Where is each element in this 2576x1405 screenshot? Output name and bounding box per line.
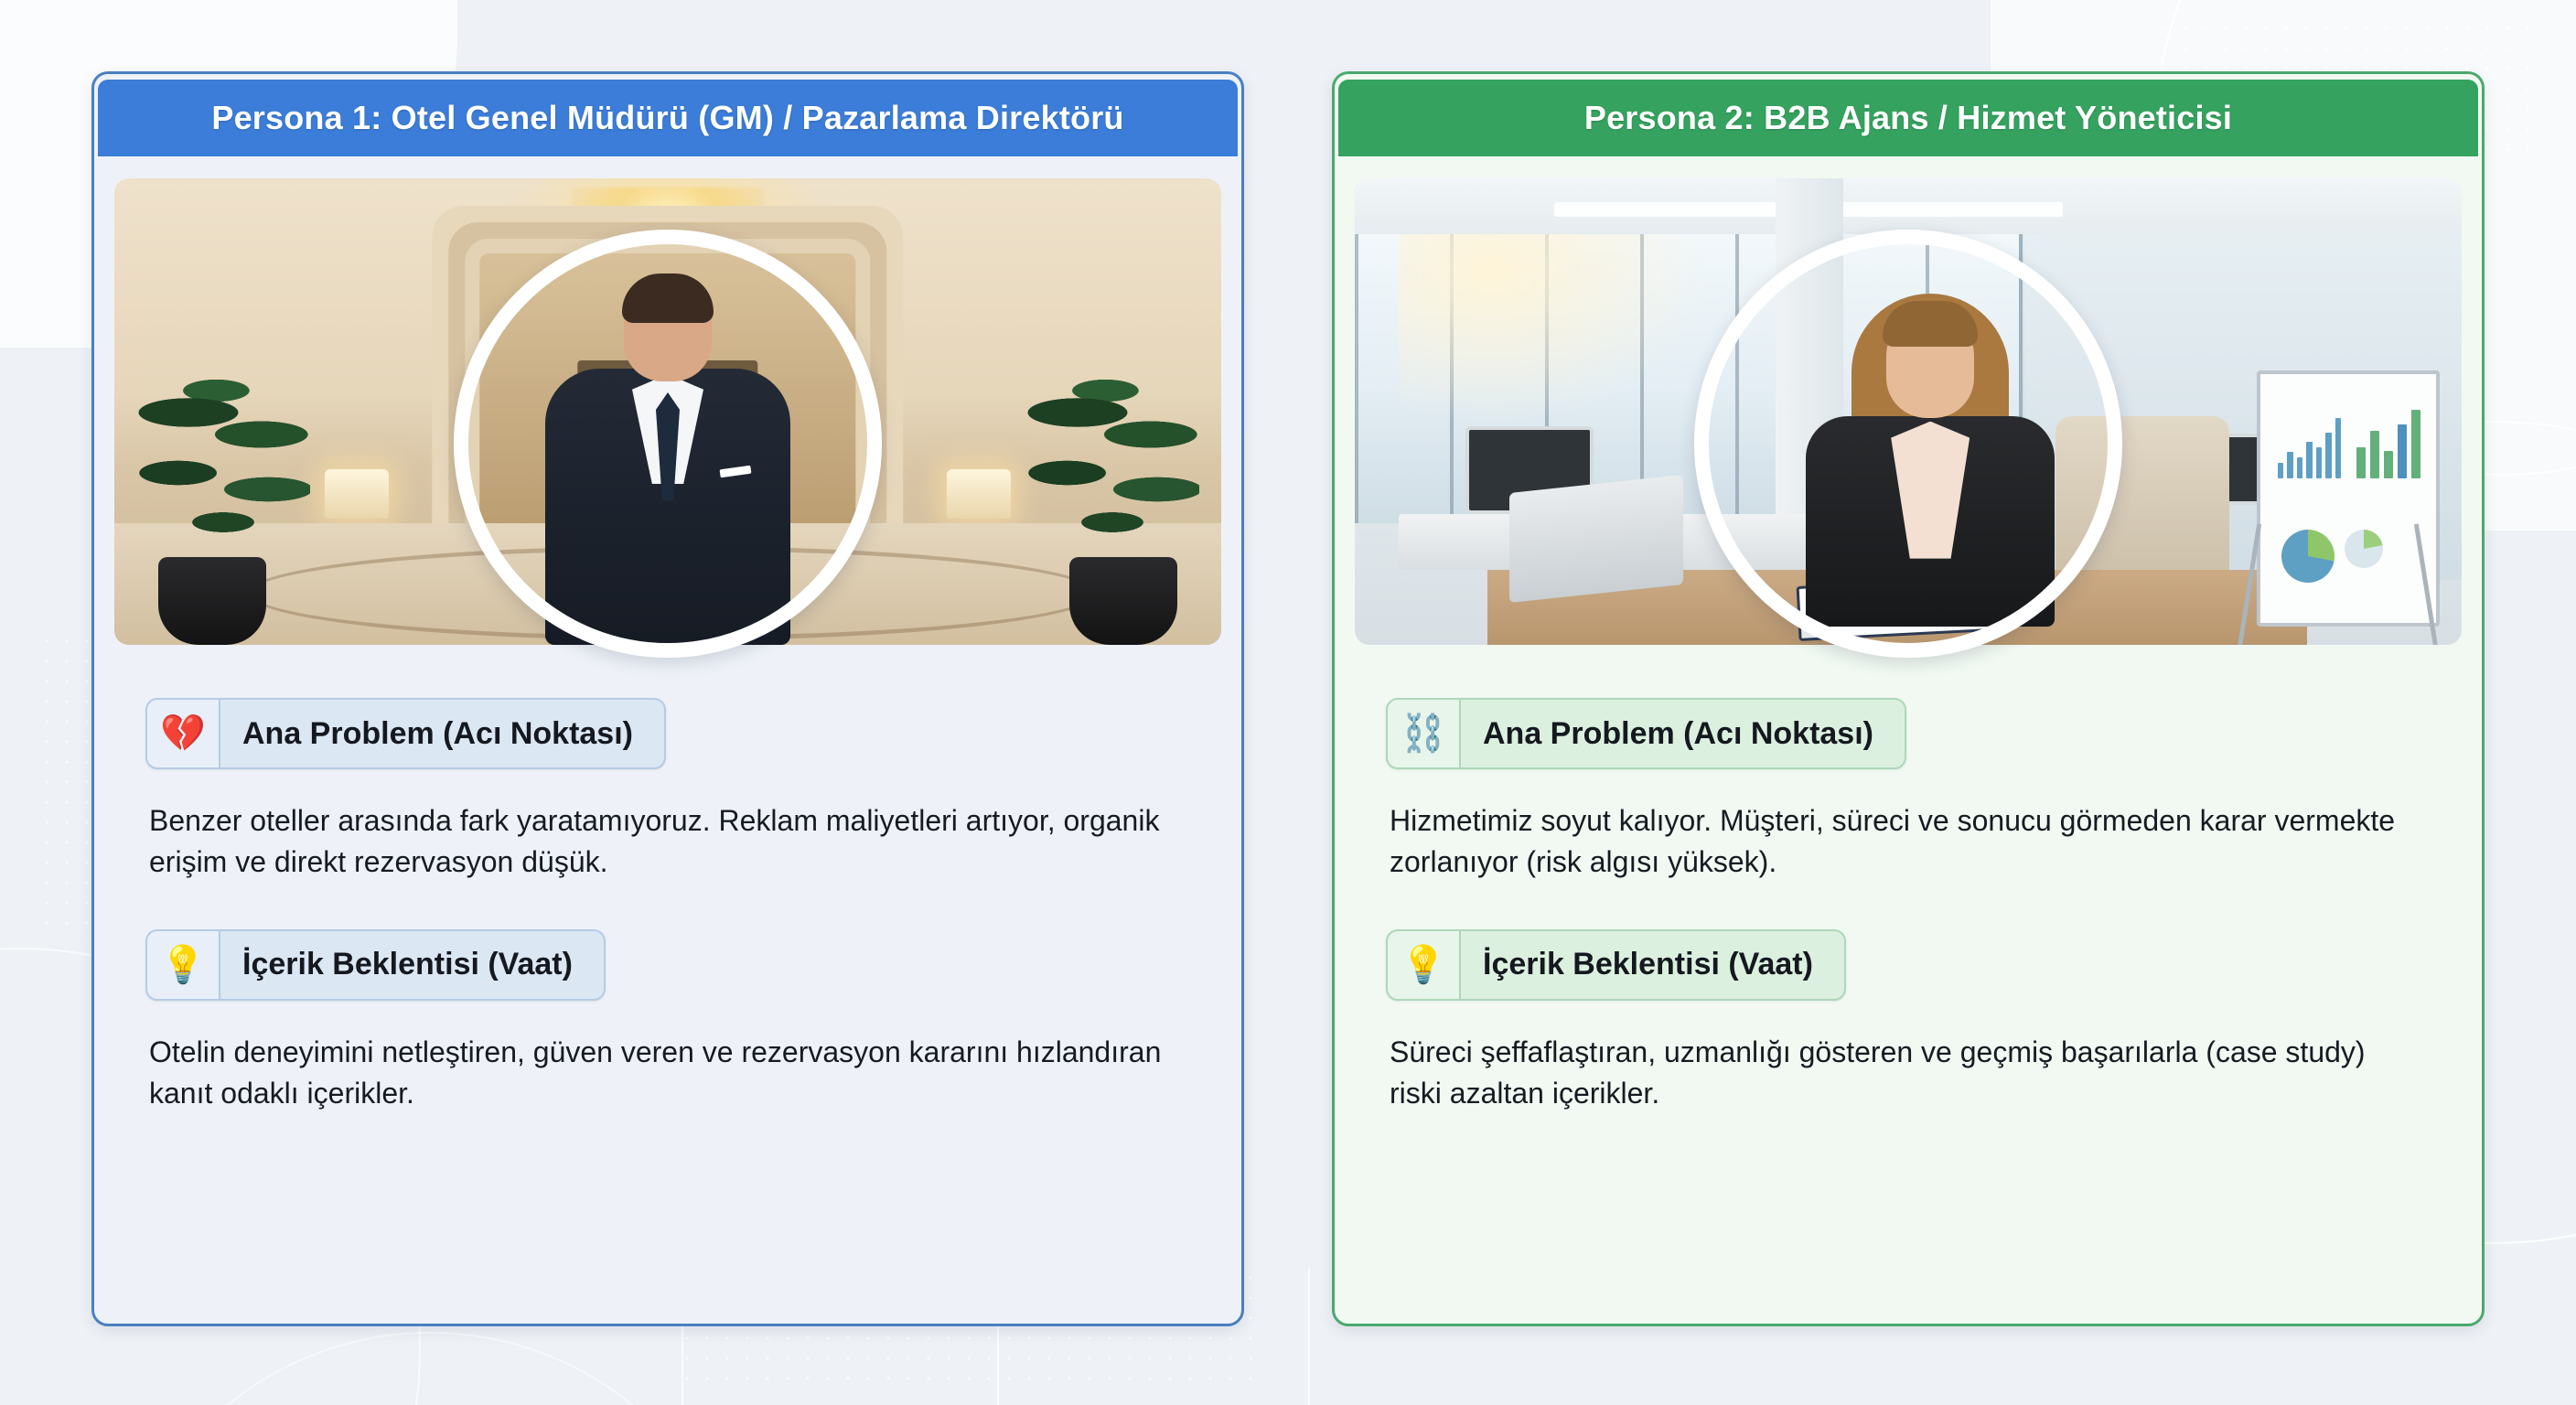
hotel-lobby-scene xyxy=(114,178,1221,645)
persona-card-1-body: 💔 Ana Problem (Acı Noktası) Benzer otell… xyxy=(94,645,1241,1324)
persona-2-problem-label: Ana Problem (Acı Noktası) xyxy=(1461,700,1905,767)
lobby-lamp-right xyxy=(947,469,1011,519)
persona-card-1-header: Persona 1: Otel Genel Müdürü (GM) / Paza… xyxy=(98,80,1238,156)
hotel-manager-figure xyxy=(535,279,800,645)
lightbulb-icon: 💡 xyxy=(147,931,220,999)
agency-manager-figure xyxy=(1793,288,2067,627)
persona-1-problem-block: 💔 Ana Problem (Acı Noktası) Benzer otell… xyxy=(145,698,1190,884)
lobby-lamp-left xyxy=(325,469,389,519)
persona-2-problem-block: ⛓️ Ana Problem (Acı Noktası) Hizmetimiz … xyxy=(1386,698,2431,884)
persona-2-expectation-text: Süreci şeffaflaştıran, uzmanlığı göstere… xyxy=(1390,1032,2414,1115)
persona-card-2-header: Persona 2: B2B Ajans / Hizmet Yöneticisi xyxy=(1338,80,2478,156)
persona-1-expectation-pill[interactable]: 💡 İçerik Beklentisi (Vaat) xyxy=(145,929,606,1001)
office-photo xyxy=(1355,178,2462,645)
persona-1-expectation-block: 💡 İçerik Beklentisi (Vaat) Otelin deneyi… xyxy=(145,929,1190,1115)
flipchart-bar-chart-2 xyxy=(2356,403,2420,478)
persona-2-expectation-label: İçerik Beklentisi (Vaat) xyxy=(1461,931,1844,999)
lightbulb-icon: 💡 xyxy=(1388,931,1461,999)
persona-card-2-body: ⛓️ Ana Problem (Acı Noktası) Hizmetimiz … xyxy=(1335,645,2482,1324)
persona-1-problem-text: Benzer oteller arasında fark yaratamıyor… xyxy=(149,800,1174,884)
persona-2-problem-pill[interactable]: ⛓️ Ana Problem (Acı Noktası) xyxy=(1386,698,1906,769)
persona-card-2: Persona 2: B2B Ajans / Hizmet Yöneticisi xyxy=(1332,71,2485,1326)
flipchart-whiteboard xyxy=(2257,370,2440,627)
persona-2-problem-text: Hizmetimiz soyut kalıyor. Müşteri, sürec… xyxy=(1390,800,2414,884)
broken-heart-icon: 💔 xyxy=(147,700,220,767)
office-ceiling xyxy=(1355,178,2462,234)
persona-1-problem-label: Ana Problem (Acı Noktası) xyxy=(220,700,664,767)
plant-pot-right xyxy=(1069,557,1177,645)
office-scene xyxy=(1355,178,2462,645)
persona-1-expectation-text: Otelin deneyimini netleştiren, güven ver… xyxy=(149,1032,1174,1115)
plant-pot-left xyxy=(158,557,266,645)
flipchart-pie-chart-1 xyxy=(2281,530,2334,583)
persona-card-1: Persona 1: Otel Genel Müdürü (GM) / Paza… xyxy=(91,71,1244,1326)
persona-2-expectation-block: 💡 İçerik Beklentisi (Vaat) Süreci şeffaf… xyxy=(1386,929,2431,1115)
persona-1-problem-pill[interactable]: 💔 Ana Problem (Acı Noktası) xyxy=(145,698,666,769)
persona-card-1-photo xyxy=(114,178,1221,645)
flipchart-bar-chart-1 xyxy=(2278,409,2341,478)
persona-board: Persona 1: Otel Genel Müdürü (GM) / Paza… xyxy=(0,0,2576,1405)
laptop-icon xyxy=(1509,475,1683,603)
hotel-lobby-photo xyxy=(114,178,1221,645)
broken-chain-icon: ⛓️ xyxy=(1388,700,1461,767)
flipchart-pie-chart-2 xyxy=(2345,530,2383,568)
hair xyxy=(622,273,714,323)
persona-2-expectation-pill[interactable]: 💡 İçerik Beklentisi (Vaat) xyxy=(1386,929,1846,1001)
persona-card-2-photo xyxy=(1355,178,2462,645)
persona-1-expectation-label: İçerik Beklentisi (Vaat) xyxy=(220,931,604,999)
hair-top xyxy=(1883,301,1978,347)
